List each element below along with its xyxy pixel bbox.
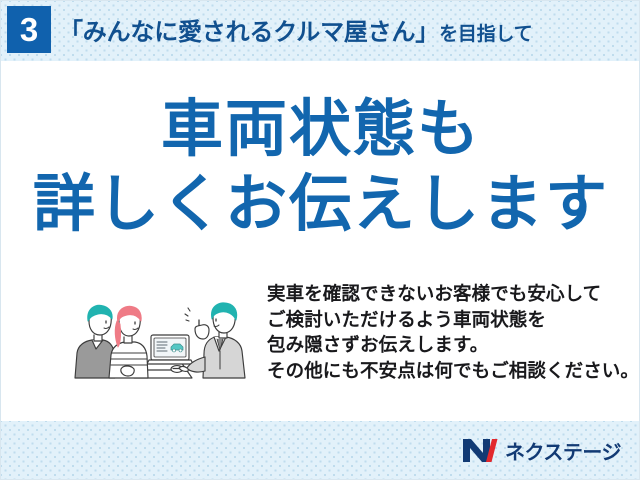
header-title-main: 「みんなに愛されるクルマ屋さん」 <box>59 12 439 47</box>
header-title: 「みんなに愛されるクルマ屋さん」 を目指して <box>59 12 533 48</box>
consultation-illustration-svg <box>59 277 254 392</box>
advertisement-banner: 3 「みんなに愛されるクルマ屋さん」 を目指して 車両状態も 詳しくお伝えします <box>0 0 640 480</box>
nextage-n-mark-icon <box>462 438 498 463</box>
header-title-suffix: を目指して <box>439 19 532 46</box>
body-copy-line-4: その他にも不安点は何でもご相談ください。 <box>267 358 627 384</box>
headline: 車両状態も 詳しくお伝えします <box>1 93 640 243</box>
brand-logo: ネクステージ <box>462 436 621 465</box>
headline-line-1: 車両状態も <box>1 93 640 167</box>
content-row: 実車を確認できないお客様でも安心して ご検討いただけるよう車両状態を 包み隠さず… <box>1 277 640 397</box>
brand-wordmark: ネクステージ <box>505 436 621 465</box>
consultation-illustration <box>59 277 254 392</box>
body-copy-line-3: 包み隠さずお伝えします。 <box>267 332 627 358</box>
headline-line-2: 詳しくお伝えします <box>1 167 640 243</box>
body-copy-line-1: 実車を確認できないお客様でも安心して <box>267 281 627 307</box>
body-copy-line-2: ご検討いただけるよう車両状態を <box>267 307 627 333</box>
step-number-badge: 3 <box>7 6 51 53</box>
body-copy: 実車を確認できないお客様でも安心して ご検討いただけるよう車両状態を 包み隠さず… <box>267 281 627 383</box>
